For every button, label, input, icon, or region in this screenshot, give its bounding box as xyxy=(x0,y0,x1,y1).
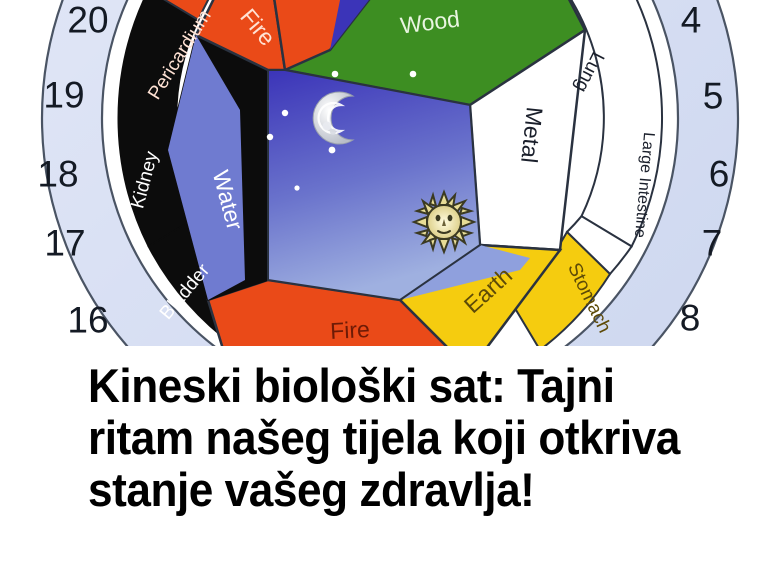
star-icon xyxy=(332,71,339,78)
star-icon xyxy=(267,134,273,140)
hour-number-16: 16 xyxy=(67,300,108,341)
star-icon xyxy=(410,71,417,78)
center-sky-polygon xyxy=(268,70,480,300)
caption-headline: Kineski biološki sat: Tajni ritam našeg … xyxy=(88,360,708,516)
star-icon xyxy=(282,110,288,116)
star-icon xyxy=(294,185,299,190)
hour-number-20: 20 xyxy=(67,0,108,41)
hour-number-19: 19 xyxy=(43,75,84,116)
caption-area: Kineski biološki sat: Tajni ritam našeg … xyxy=(0,346,780,580)
hour-number-7: 7 xyxy=(702,223,723,264)
hour-number-4: 4 xyxy=(681,0,702,41)
hour-number-5: 5 xyxy=(703,76,724,117)
hour-number-17: 17 xyxy=(44,223,85,264)
hour-number-18: 18 xyxy=(37,154,78,195)
element-label-fire-bottom: Fire xyxy=(330,316,371,344)
chinese-clock-svg: Wood Metal Earth Fire Water Fire Lung La… xyxy=(0,0,780,346)
clock-illustration: Wood Metal Earth Fire Water Fire Lung La… xyxy=(0,0,780,346)
sun-face-icon xyxy=(414,192,474,252)
hour-number-8: 8 xyxy=(680,298,701,339)
hour-number-6: 6 xyxy=(709,154,730,195)
page-root: Wood Metal Earth Fire Water Fire Lung La… xyxy=(0,0,780,580)
star-icon xyxy=(329,147,336,154)
